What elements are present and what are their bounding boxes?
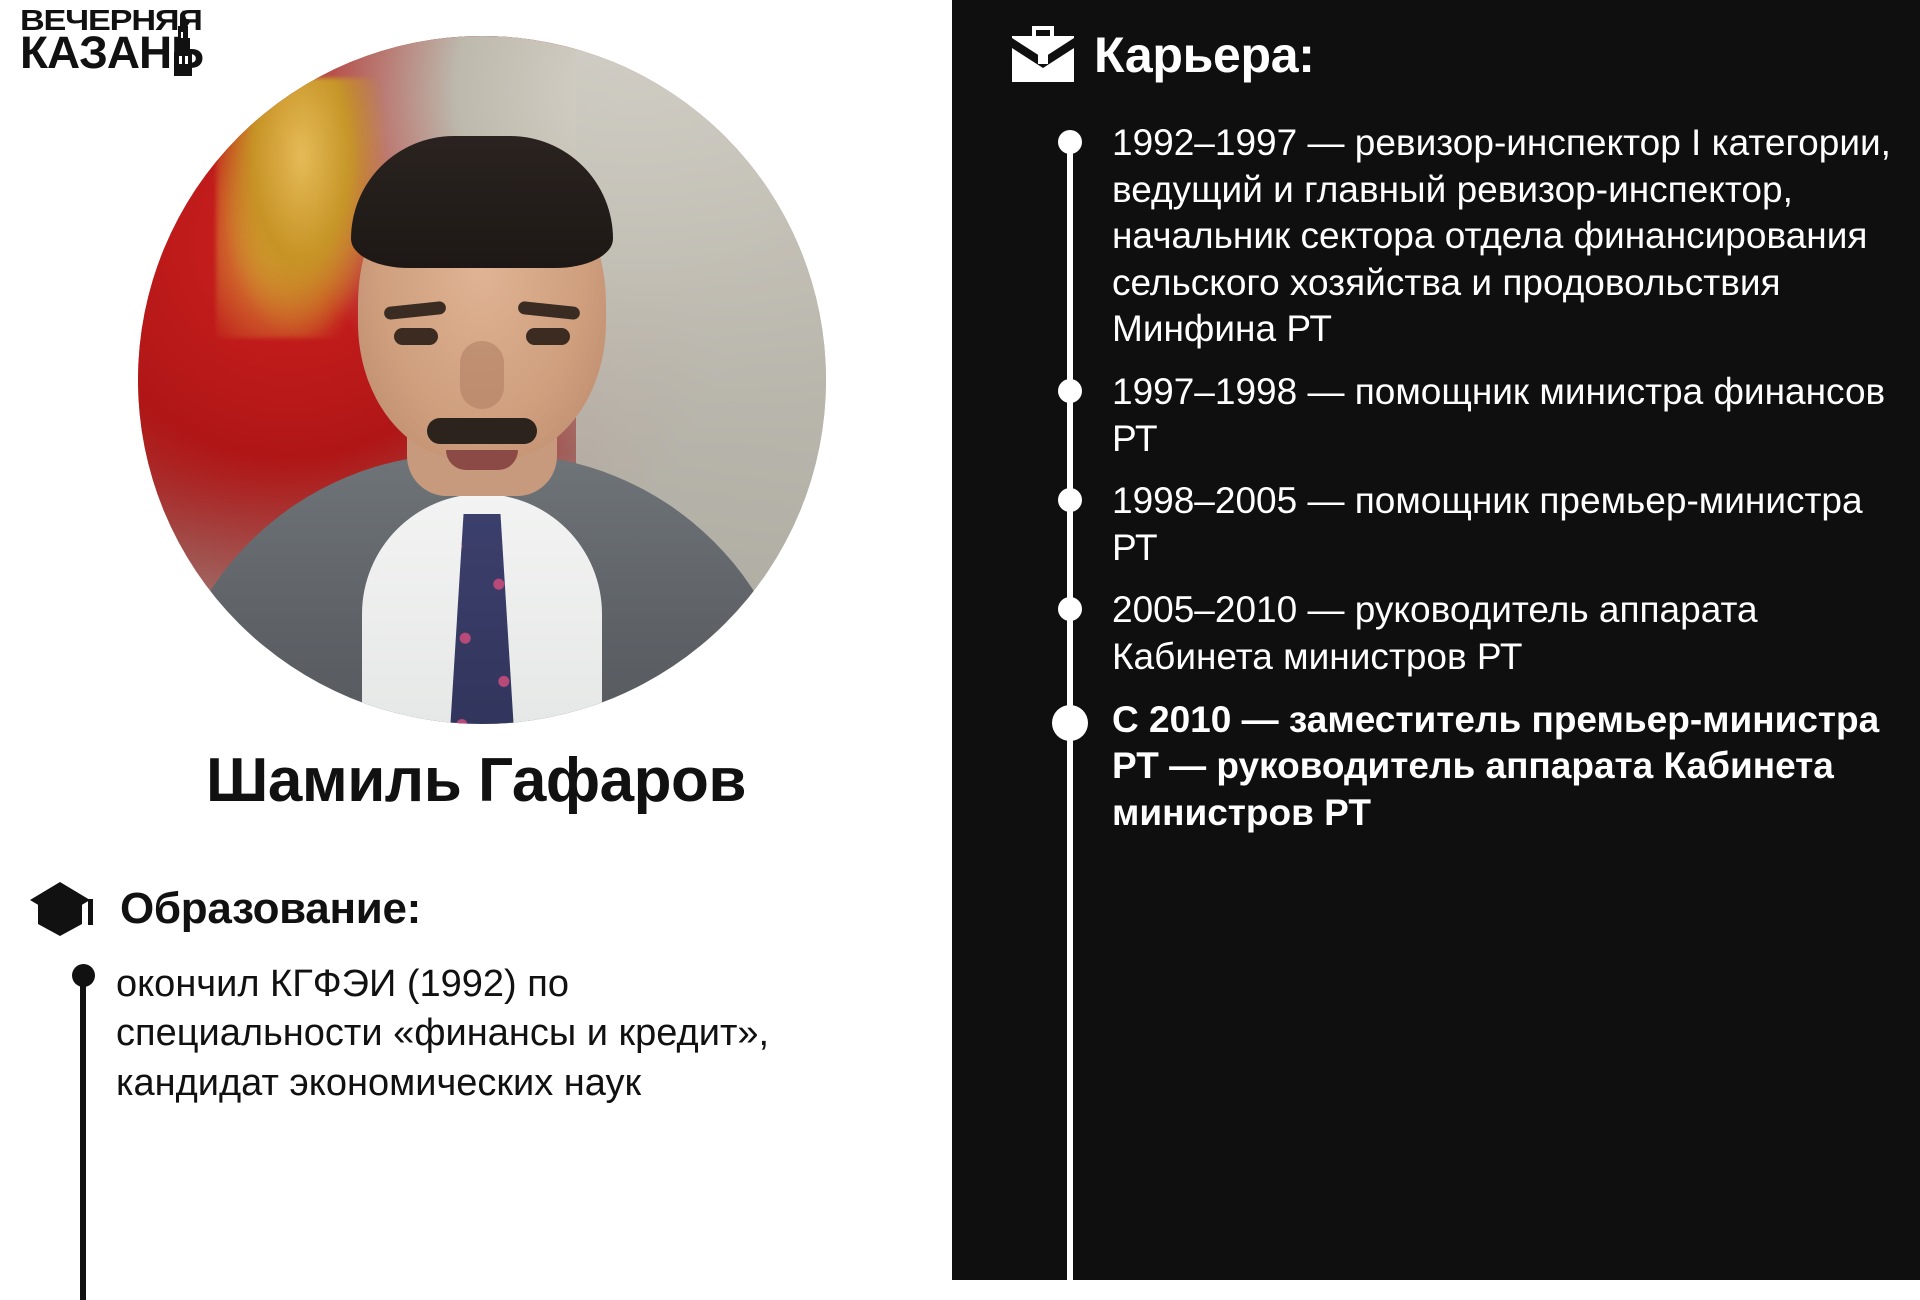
career-item: 1997–1998 — помощник министра финансов Р… xyxy=(1052,369,1892,462)
education-title: Образование: xyxy=(120,884,421,934)
person-name: Шамиль Гафаров xyxy=(0,745,952,816)
eye-left xyxy=(394,328,438,345)
career-item-text: 1992–1997 — ревизор-инспектор I категори… xyxy=(1112,120,1892,353)
education-bullet-dot xyxy=(72,964,95,987)
career-bullet-dot xyxy=(1058,379,1082,403)
education-timeline-rail xyxy=(80,970,86,1300)
career-timeline: 1992–1997 — ревизор-инспектор I категори… xyxy=(1052,120,1892,1280)
education-header: Образование: xyxy=(30,880,421,938)
career-bullet-dot xyxy=(1058,130,1082,154)
career-bullet-dot-current xyxy=(1052,705,1088,741)
person-photo xyxy=(138,36,826,724)
career-item: 2005–2010 — руководитель аппарата Кабине… xyxy=(1052,587,1892,680)
education-item-text: окончил КГФЭИ (1992) по специальности «ф… xyxy=(116,960,780,1108)
briefcase-icon xyxy=(1012,26,1074,84)
career-header: Карьера: xyxy=(1012,26,1315,84)
career-item-text: 2005–2010 — руководитель аппарата Кабине… xyxy=(1112,587,1892,680)
career-item-current: С 2010 — заместитель премьер-министра РТ… xyxy=(1052,697,1892,837)
eye-right xyxy=(526,328,570,345)
education-body: окончил КГФЭИ (1992) по специальности «ф… xyxy=(80,960,780,1108)
left-panel: ВЕЧЕРНЯЯ КАЗАНЬ Шамиль Гафаров xyxy=(0,0,952,1280)
career-item: 1998–2005 — помощник премьер-министра РТ xyxy=(1052,478,1892,571)
career-bullet-dot xyxy=(1058,488,1082,512)
graduation-cap-icon xyxy=(30,880,104,938)
career-item: 1992–1997 — ревизор-инспектор I категори… xyxy=(1052,120,1892,353)
career-item-text: 1998–2005 — помощник премьер-министра РТ xyxy=(1112,478,1892,571)
career-item-text: 1997–1998 — помощник министра финансов Р… xyxy=(1112,369,1892,462)
career-item-text: С 2010 — заместитель премьер-министра РТ… xyxy=(1112,697,1892,837)
moustache xyxy=(427,418,537,444)
right-panel: Карьера: 1992–1997 — ревизор-инспектор I… xyxy=(952,0,1920,1280)
nose xyxy=(460,341,504,409)
career-bullet-dot xyxy=(1058,597,1082,621)
career-title: Карьера: xyxy=(1094,26,1315,84)
mouth xyxy=(446,450,518,470)
